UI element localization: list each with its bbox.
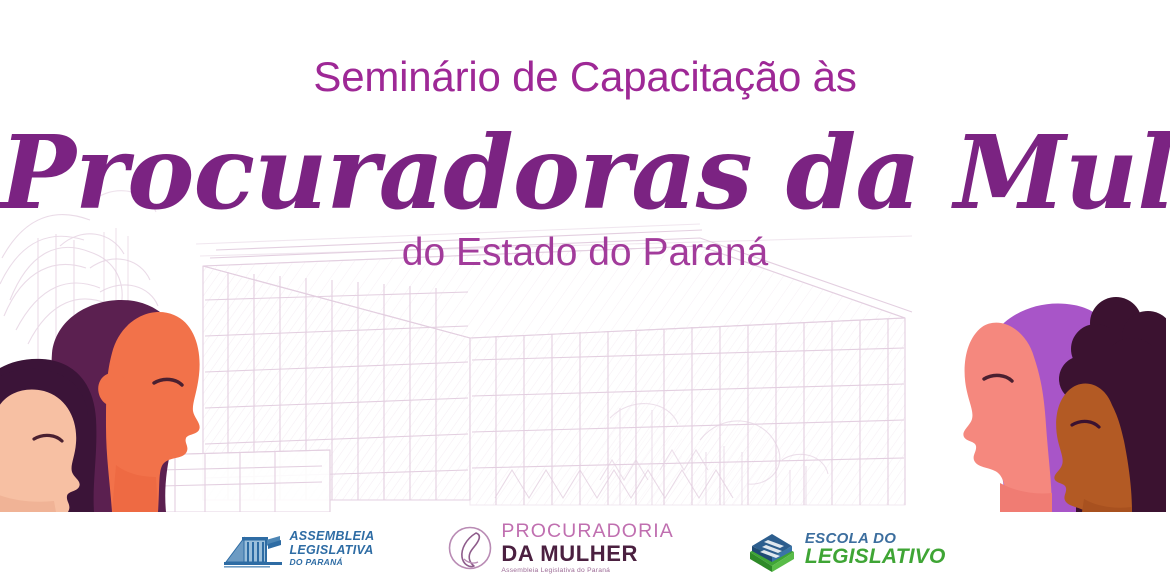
banner-eyebrow: Seminário de Capacitação às — [0, 0, 1170, 99]
illustration-women-right — [956, 287, 1166, 512]
logo-assembleia-legislativa[interactable]: ASSEMBLEIA LEGISLATIVA DO PARANÁ — [224, 528, 374, 570]
assembleia-wordmark: ASSEMBLEIA LEGISLATIVA DO PARANÁ — [289, 530, 374, 567]
stacked-books-icon — [746, 526, 798, 572]
assembleia-line-2: LEGISLATIVA — [289, 544, 374, 557]
escola-line-1: ESCOLA DO — [805, 531, 946, 546]
procuradoria-line-3: Assembleia Legislativa do Paraná — [501, 568, 673, 575]
legislative-building-icon — [224, 528, 282, 570]
footer-logo-bar: ASSEMBLEIA LEGISLATIVA DO PARANÁ PROCURA… — [0, 512, 1170, 585]
procuradoria-line-1: PROCURADORIA — [501, 522, 673, 542]
assembleia-line-3: DO PARANÁ — [289, 558, 374, 567]
illustration-women-left — [0, 287, 224, 512]
banner-text-block: Seminário de Capacitação às Procuradoras… — [0, 0, 1170, 274]
procuradoria-wordmark: PROCURADORIA DA MULHER Assembleia Legisl… — [501, 522, 673, 574]
logo-procuradoria-da-mulher[interactable]: PROCURADORIA DA MULHER Assembleia Legisl… — [446, 522, 673, 574]
event-banner: Seminário de Capacitação às Procuradoras… — [0, 0, 1170, 585]
banner-headline: Procuradoras da Mulher — [0, 99, 1170, 221]
logo-escola-do-legislativo[interactable]: ESCOLA DO LEGISLATIVO — [746, 526, 946, 572]
woman-front-left — [0, 359, 96, 512]
escola-line-2: LEGISLATIVO — [805, 546, 946, 567]
procuradoria-line-2: DA MULHER — [501, 543, 673, 565]
escola-wordmark: ESCOLA DO LEGISLATIVO — [805, 531, 946, 567]
woman-profile-circle-icon — [446, 523, 494, 573]
assembleia-line-1: ASSEMBLEIA — [289, 530, 374, 543]
